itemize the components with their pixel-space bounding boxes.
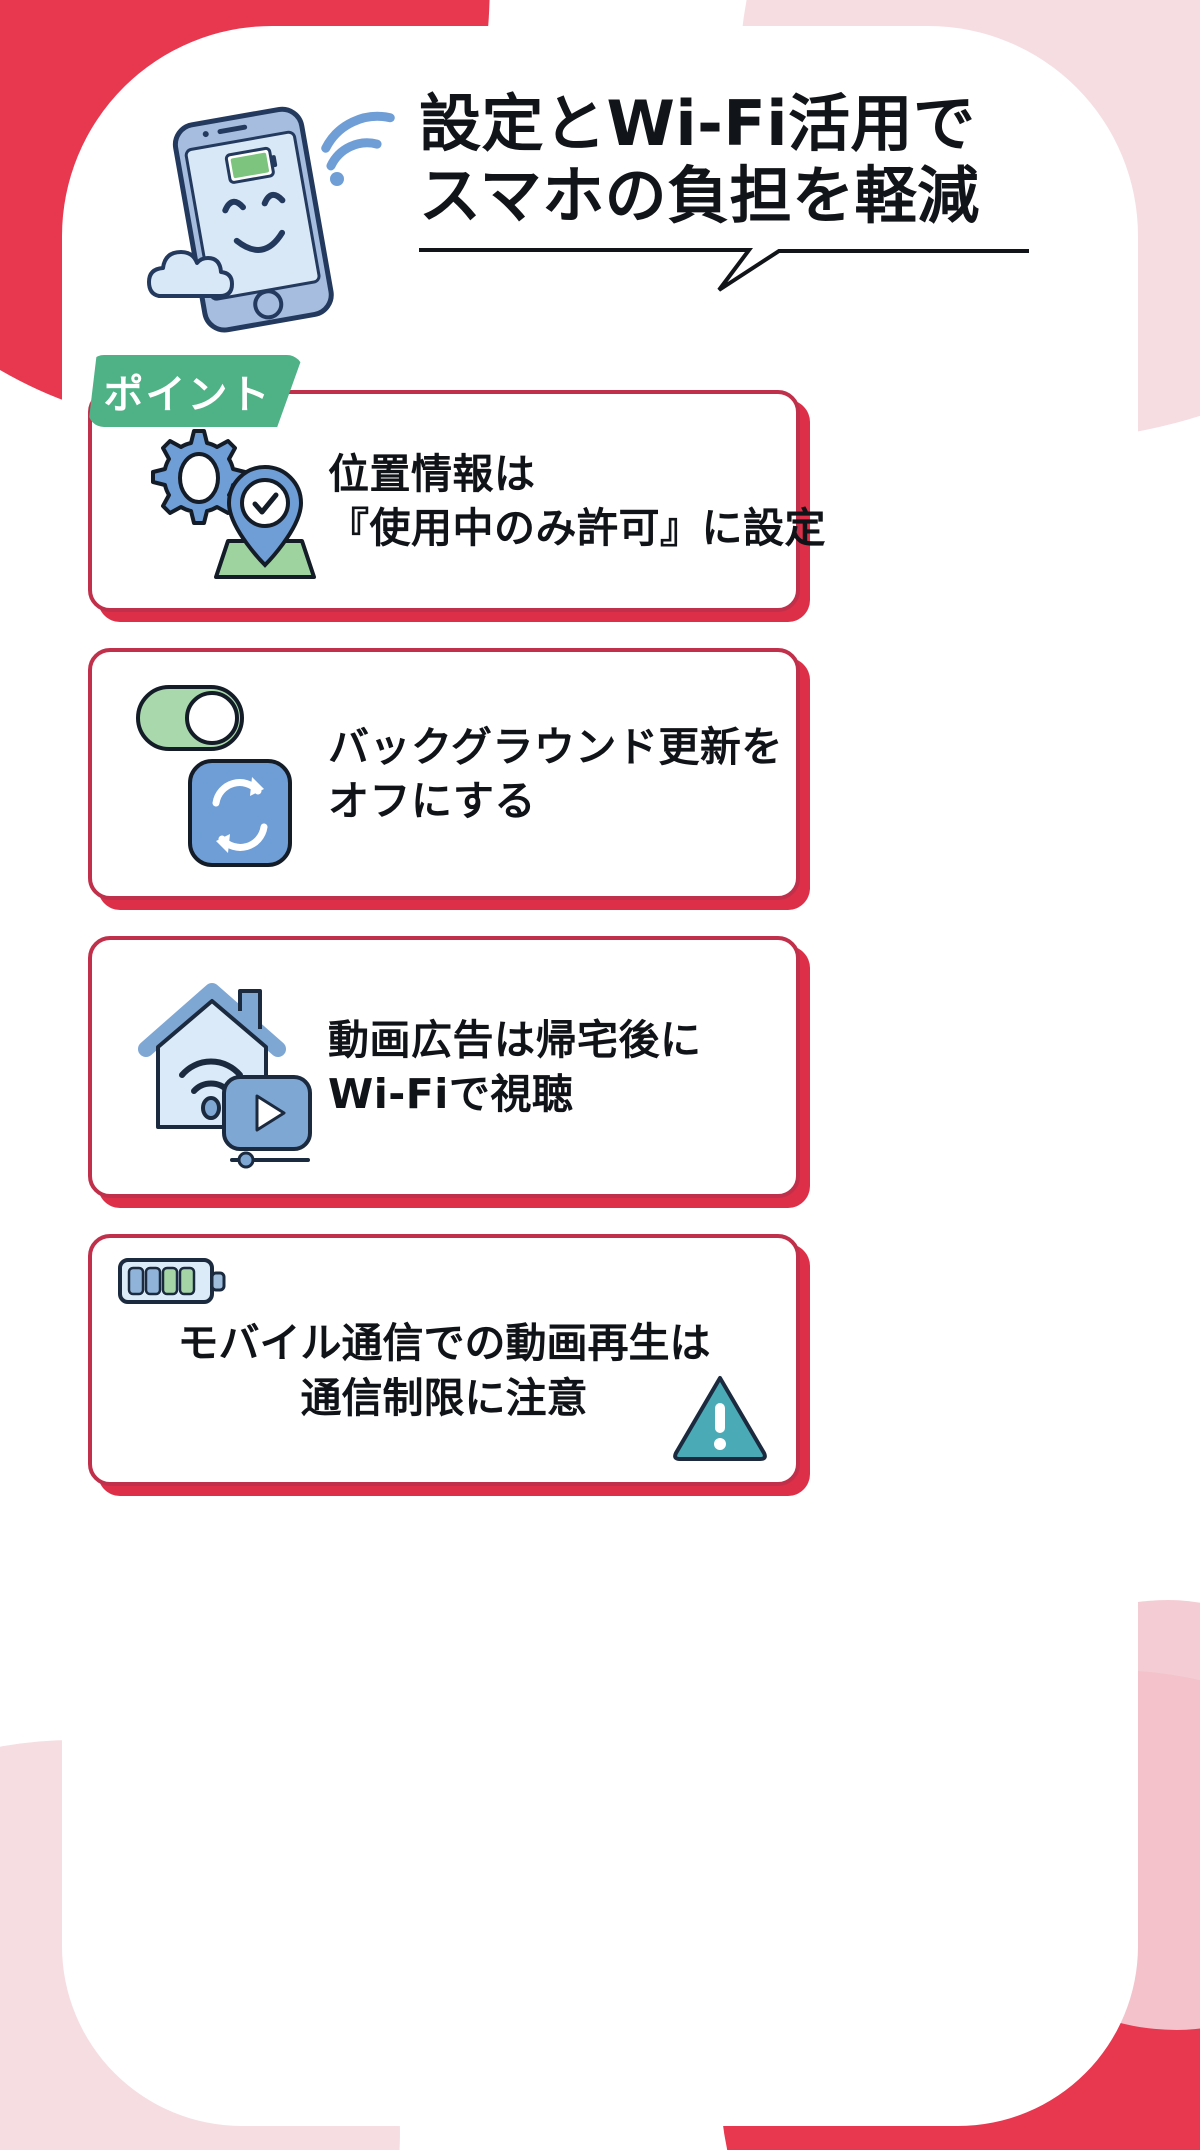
card-3-icon-group (118, 965, 328, 1170)
card-body: 動画広告は帰宅後に Wi-Fiで視聴 (88, 936, 800, 1198)
wifi-dot-icon (330, 172, 344, 186)
page-title-line-2: スマホの負担を軽減 (419, 160, 1059, 232)
battery-icon (116, 1252, 228, 1310)
card-1-text-line-2: 『使用中のみ許可』に設定 (328, 501, 826, 555)
header: 設定とWi-Fi活用で スマホの負担を軽減 (0, 70, 1200, 380)
background-refresh-icon (190, 761, 290, 865)
toggle-switch-on-icon (138, 687, 242, 749)
card-1-text: 位置情報は 『使用中のみ許可』に設定 (328, 447, 826, 555)
wifi-signal-icon (321, 112, 394, 166)
card-4-warning-icon-wrap (672, 1371, 768, 1468)
points-card-list: 位置情報は 『使用中のみ許可』に設定 (88, 390, 1112, 1522)
card-2-text-line-2: オフにする (328, 774, 783, 828)
point-badge: ポイント (88, 355, 303, 427)
title-block: 設定とWi-Fi活用で スマホの負担を軽減 (419, 70, 1059, 292)
card-body: モバイル通信での動画再生は 通信制限に注意 (88, 1234, 800, 1486)
card-2-text-line-1: バックグラウンド更新を (328, 720, 783, 774)
card-3-text-line-2: Wi-Fiで視聴 (328, 1067, 770, 1121)
point-card-2[interactable]: バックグラウンド更新を オフにする (88, 648, 800, 900)
header-illustration (141, 78, 411, 338)
card-3-text: 動画広告は帰宅後に Wi-Fiで視聴 (328, 1013, 770, 1121)
page-title-line-1: 設定とWi-Fi活用で (419, 88, 1059, 160)
title-speech-underline (419, 246, 1029, 292)
card-3-text-line-1: 動画広告は帰宅後に (328, 1013, 770, 1067)
card-2-text: バックグラウンド更新を オフにする (328, 720, 783, 828)
card-body: バックグラウンド更新を オフにする (88, 648, 800, 900)
video-play-icon (224, 1077, 310, 1167)
point-card-4[interactable]: モバイル通信での動画再生は 通信制限に注意 (88, 1234, 800, 1486)
infographic-root: 設定とWi-Fi活用で スマホの負担を軽減 ポイント (0, 0, 1200, 2150)
warning-triangle-icon (672, 1371, 768, 1463)
card-1-icon-group (118, 419, 328, 584)
card-4-text-line-1: モバイル通信での動画再生は (92, 1316, 796, 1371)
smiling-smartphone-icon (141, 78, 411, 338)
point-badge-label: ポイント (88, 355, 303, 427)
card-2-icon-group (118, 677, 328, 872)
card-1-text-line-1: 位置情報は (328, 447, 826, 501)
point-card-3[interactable]: 動画広告は帰宅後に Wi-Fiで視聴 (88, 936, 800, 1198)
card-4-battery-icon-wrap (116, 1252, 228, 1315)
